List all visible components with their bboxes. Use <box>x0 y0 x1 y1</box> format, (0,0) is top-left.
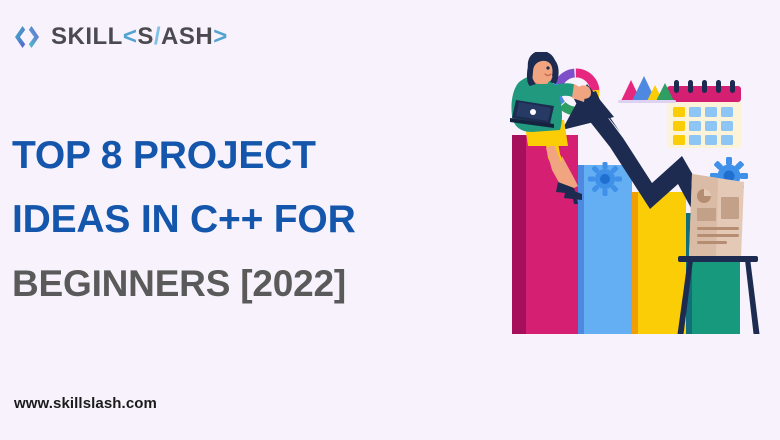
brand-logo[interactable]: SKILL<S/ASH> <box>12 20 228 54</box>
website-url[interactable]: www.skillslash.com <box>14 395 157 412</box>
calendar-icon <box>667 80 741 148</box>
promo-banner: SKILL<S/ASH> TOP 8 PROJECT IDEAS IN C++ … <box>0 0 780 440</box>
mountain-chart-icon <box>618 76 676 103</box>
headline-line-3: BEGINNERS [2022] <box>12 252 472 316</box>
headline-block: TOP 8 PROJECT IDEAS IN C++ FOR BEGINNERS… <box>12 124 472 316</box>
code-bracket-icon <box>12 22 42 52</box>
brand-logo-text: SKILL<S/ASH> <box>51 23 228 51</box>
logo-part-slash: / <box>154 23 161 51</box>
logo-part-ash: ASH <box>161 23 213 51</box>
headline-line-2: IDEAS IN C++ FOR <box>12 188 472 252</box>
logo-part-skill: SKILL <box>51 23 123 51</box>
logo-part-bracket-close: > <box>213 23 228 51</box>
data-analytics-illustration <box>492 52 774 334</box>
headline-line-1: TOP 8 PROJECT <box>12 124 472 188</box>
gear-icon-small <box>588 162 622 196</box>
logo-part-s: S <box>137 23 154 51</box>
logo-part-bracket-open: < <box>123 23 138 51</box>
